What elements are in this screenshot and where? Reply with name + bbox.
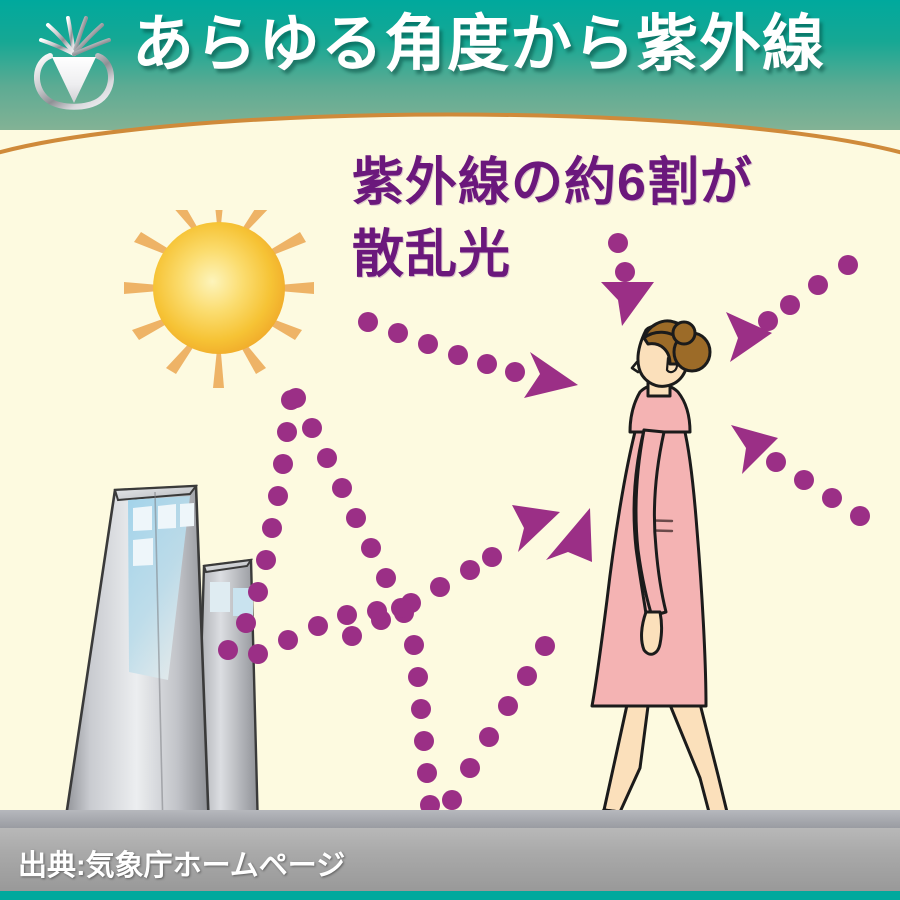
building-middle	[168, 486, 209, 830]
headline-text: 紫外線の約6割が 散乱光	[352, 148, 753, 292]
uv-ray-dots-f	[286, 388, 411, 618]
footer-accent-strip	[0, 891, 900, 900]
uv-ray-dots-h	[758, 255, 858, 331]
uv-ray-dots-b	[342, 547, 502, 646]
footer-bar: 出典:気象庁ホームページ	[0, 828, 900, 900]
uv-ray-dots-a	[358, 312, 525, 382]
walking-woman	[582, 321, 750, 852]
page-title: あらゆる角度から紫外線	[132, 14, 825, 76]
uv-ray-dots-i	[766, 452, 870, 526]
uv-infographic-poster: あらゆる角度から紫外線 紫外線の約6割が 散乱光 出典:気象庁ホームページ	[0, 0, 900, 900]
ground-strip	[0, 810, 900, 828]
uv-ray-paths	[218, 233, 870, 840]
sun-icon	[124, 186, 314, 388]
uv-arrowhead-b	[512, 505, 560, 552]
uv-arrowhead-a	[524, 352, 578, 398]
source-attribution: 出典:気象庁ホームページ	[18, 842, 345, 884]
